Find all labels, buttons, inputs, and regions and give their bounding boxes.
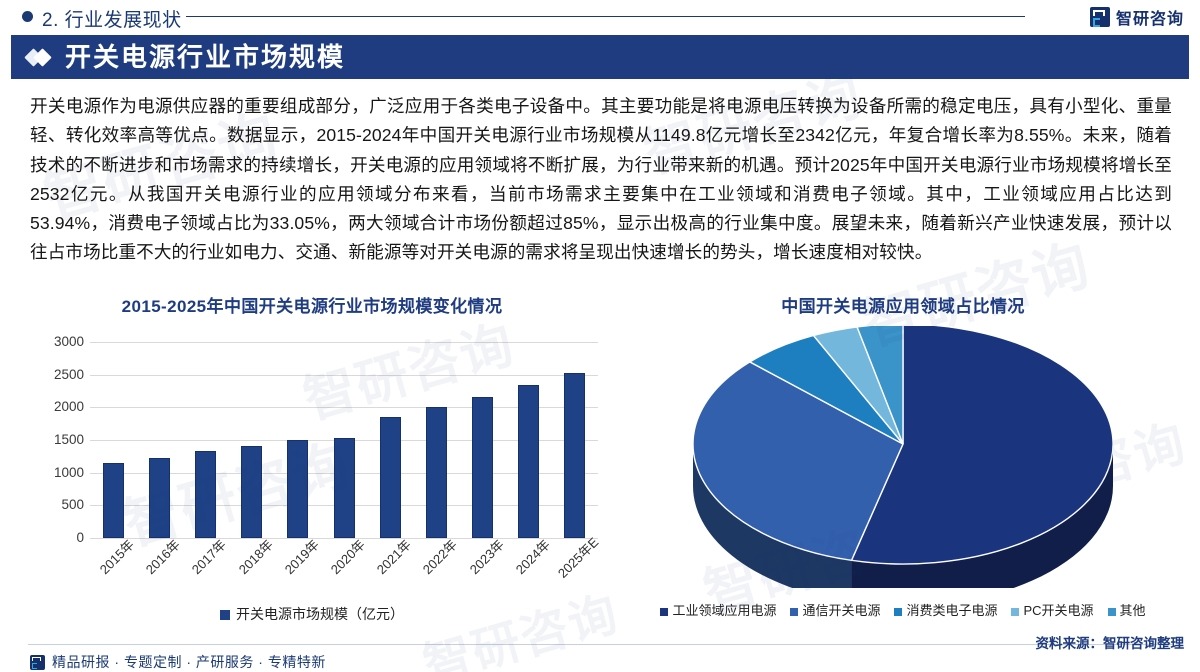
bar-chart-legend: 开关电源市场规模（亿元） <box>12 604 612 624</box>
x-axis-tick: 2016年 <box>136 542 182 600</box>
legend-swatch <box>790 608 798 616</box>
bar-slot <box>413 342 459 538</box>
bar[interactable] <box>380 417 401 538</box>
bar-slot <box>275 342 321 538</box>
brand-name: 智研咨询 <box>1116 5 1184 29</box>
pie-legend-item[interactable]: 消费类电子电源 <box>894 603 997 618</box>
legend-swatch <box>1011 608 1019 616</box>
x-axis-tick-label: 2015年 <box>95 535 138 578</box>
bar[interactable] <box>241 446 262 538</box>
bar-series <box>90 342 598 538</box>
top-bar: 2. 行业发展现状 智研咨询 <box>0 0 1200 34</box>
x-axis-tick-label: 2023年 <box>464 535 507 578</box>
pie-chart-svg: 工业领域应用电源 53.94%通信开关电源 33.05%消费类电子电源 6%PC… <box>653 326 1153 588</box>
bar-slot <box>229 342 275 538</box>
pie-legend-item[interactable]: 工业领域应用电源 <box>660 603 776 618</box>
pie-chart-plot-area: 工业领域应用电源 53.94%通信开关电源 33.05%消费类电子电源 6%PC… <box>653 326 1153 588</box>
bar-slot <box>552 342 598 538</box>
legend-swatch <box>894 608 902 616</box>
bar[interactable] <box>518 385 539 538</box>
bar[interactable] <box>334 438 355 538</box>
bar-chart-x-axis: 2015年2016年2017年2018年2019年2020年2021年2022年… <box>90 542 598 600</box>
x-axis-tick: 2017年 <box>182 542 228 600</box>
bar[interactable] <box>287 440 308 538</box>
body-paragraph: 开关电源作为电源供应器的重要组成部分，广泛应用于各类电子设备中。其主要功能是将电… <box>30 92 1172 268</box>
bar[interactable] <box>103 463 124 538</box>
legend-swatch <box>1108 608 1116 616</box>
pie-legend-item[interactable]: 其他 <box>1108 603 1146 618</box>
x-axis-tick-label: 2024年 <box>510 535 553 578</box>
x-axis-tick: 2022年 <box>413 542 459 600</box>
footer: 精品研报 · 专题定制 · 产研服务 · 专精特新 <box>30 652 326 672</box>
bar-slot <box>460 342 506 538</box>
section-title: 2. 行业发展现状 <box>42 5 182 32</box>
footer-divider <box>28 644 1172 645</box>
pie-chart-legend: 工业领域应用电源通信开关电源消费类电子电源PC开关电源其他 <box>618 600 1188 619</box>
x-axis-tick: 2025年E <box>552 542 598 600</box>
y-axis-tick-label: 1500 <box>40 432 84 447</box>
bar-chart-panel: 2015-2025年中国开关电源行业市场规模变化情况 0500100015002… <box>12 292 612 640</box>
pie-chart-title: 中国开关电源应用领域占比情况 <box>618 292 1188 322</box>
x-axis-tick-label: 2018年 <box>233 535 276 578</box>
y-axis-tick-label: 0 <box>40 530 84 545</box>
x-axis-tick: 2020年 <box>321 542 367 600</box>
footer-text: 精品研报 · 专题定制 · 产研服务 · 专精特新 <box>52 652 326 672</box>
bar[interactable] <box>195 451 216 538</box>
x-axis-tick: 2015年 <box>90 542 136 600</box>
x-axis-tick: 2023年 <box>460 542 506 600</box>
legend-swatch <box>220 610 230 620</box>
legend-label: 开关电源市场规模（亿元） <box>236 606 404 622</box>
legend-label: 工业领域应用电源 <box>672 603 776 618</box>
pie-chart-panel: 中国开关电源应用领域占比情况 工业领域应用电源 53.94%通信开关电源 33.… <box>618 292 1188 640</box>
x-axis-tick-label: 2021年 <box>372 535 415 578</box>
bar[interactable] <box>472 397 493 538</box>
zhiyan-logo-icon <box>1090 7 1110 27</box>
y-axis-tick-label: 2500 <box>40 367 84 382</box>
x-axis-tick: 2021年 <box>367 542 413 600</box>
y-axis-tick-label: 1000 <box>40 465 84 480</box>
x-axis-tick: 2019年 <box>275 542 321 600</box>
pie-legend-item[interactable]: PC开关电源 <box>1011 603 1093 618</box>
header-divider <box>186 16 1025 17</box>
bar-slot <box>367 342 413 538</box>
x-axis-tick-label: 2019年 <box>279 535 322 578</box>
pie-legend-item[interactable]: 通信开关电源 <box>790 603 880 618</box>
legend-label: 通信开关电源 <box>802 603 880 618</box>
bar-slot <box>506 342 552 538</box>
bar[interactable] <box>564 373 585 538</box>
zhiyan-logo-icon <box>30 655 45 670</box>
y-axis-tick-label: 2000 <box>40 399 84 414</box>
x-axis-tick-label: 2016年 <box>141 535 184 578</box>
bar-slot <box>136 342 182 538</box>
bar-chart-plot-area: 050010001500200025003000 <box>90 342 598 538</box>
page-title: 开关电源行业市场规模 <box>65 44 345 70</box>
legend-swatch <box>660 608 668 616</box>
bar-slot <box>182 342 228 538</box>
x-axis-tick-label: 2025年E <box>553 532 602 581</box>
brand-logo: 智研咨询 <box>1090 5 1184 29</box>
y-axis-tick-label: 500 <box>40 497 84 512</box>
x-axis-tick: 2024年 <box>506 542 552 600</box>
diamond-icon <box>27 50 53 65</box>
legend-label: 消费类电子电源 <box>906 603 997 618</box>
source-note: 资料来源：智研咨询整理 <box>1036 632 1185 652</box>
x-axis-tick-label: 2017年 <box>187 535 230 578</box>
bar-slot <box>321 342 367 538</box>
bar-slot <box>90 342 136 538</box>
bar[interactable] <box>149 458 170 538</box>
legend-label: 其他 <box>1120 603 1146 618</box>
x-axis-tick: 2018年 <box>229 542 275 600</box>
x-axis-tick-label: 2020年 <box>326 535 369 578</box>
page-title-banner: 开关电源行业市场规模 <box>11 35 1189 79</box>
y-axis-tick-label: 3000 <box>40 334 84 349</box>
x-axis-tick-label: 2022年 <box>418 535 461 578</box>
section-bullet-icon <box>22 11 33 22</box>
bar[interactable] <box>426 407 447 538</box>
legend-label: PC开关电源 <box>1023 603 1093 618</box>
bar-chart-title: 2015-2025年中国开关电源行业市场规模变化情况 <box>12 292 612 322</box>
